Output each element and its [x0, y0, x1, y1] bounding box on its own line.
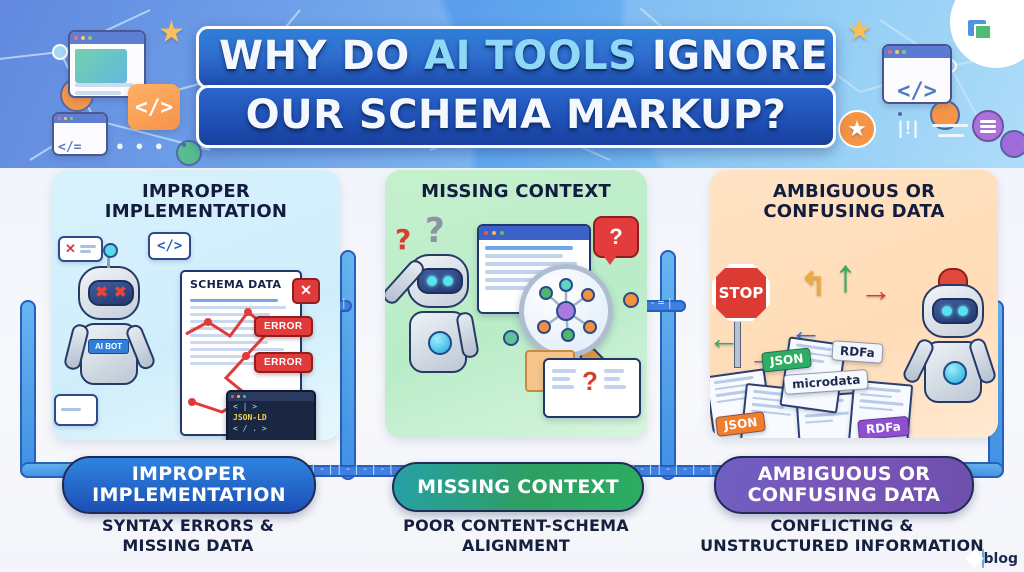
star-icon: ★ — [846, 16, 873, 46]
code-slash-icon: </= — [58, 140, 81, 155]
arrow-curve-orange: ↰ — [800, 268, 827, 300]
content-line — [75, 91, 121, 95]
caption-3-line2: UNSTRUCTURED INFORMATION — [676, 536, 1008, 556]
window-close-dot — [888, 50, 892, 54]
magnifier-lens — [519, 264, 613, 358]
error-badge-1: ERROR — [254, 316, 313, 337]
x-error-badge: ✕ — [292, 278, 320, 304]
question-card: ? — [543, 358, 641, 418]
capsule-missing-context[interactable]: MISSING CONTEXT — [392, 462, 644, 512]
panel-2-header: MISSING CONTEXT — [385, 170, 647, 202]
capsule-improper-implementation[interactable]: IMPROPER IMPLEMENTATION — [62, 456, 316, 514]
title-part-highlight: AI TOOLS — [424, 33, 637, 79]
decor-browser-window-small: </= — [52, 112, 108, 156]
thumbnail-image — [75, 49, 127, 83]
confused-robot — [407, 254, 469, 373]
window-close-dot — [74, 36, 78, 40]
robot-core-light — [943, 361, 967, 385]
panel-3-header-line1: AMBIGUOUS OR — [710, 182, 998, 202]
tag-rdfa-purple: RDFa — [857, 415, 909, 438]
window-minimize-dot — [81, 36, 85, 40]
panel-3-header-line2: CONFUSING DATA — [710, 202, 998, 222]
window-maximize-dot — [88, 36, 92, 40]
arrow-up-green: ↑ — [834, 252, 857, 298]
window-content: </= — [54, 123, 106, 156]
code-tag-icon: </> — [157, 238, 182, 254]
caption-1-line1: SYNTAX ERRORS & — [40, 516, 336, 536]
code-bubble: </> — [148, 232, 191, 260]
panel-improper-implementation[interactable]: IMPROPER IMPLEMENTATION ✕ </> ? ✖ — [52, 170, 340, 440]
robot-head — [922, 284, 984, 338]
robot-eye-left — [427, 276, 437, 286]
robot-core-light — [428, 331, 452, 355]
tag-rdfa-white: RDFa — [831, 340, 883, 363]
window-minimize-dot — [64, 117, 67, 120]
capsule-1-line1: IMPROPER — [92, 464, 286, 485]
capsule-1-text: IMPROPER IMPLEMENTATION — [92, 464, 286, 505]
code-line-label: JSON-LD — [228, 412, 314, 423]
json-ld-code-window: < | > JSON-LD < / . > — [226, 390, 316, 440]
arrow-left-green: ← — [710, 322, 740, 354]
decor-spacer-2 — [898, 112, 902, 116]
pipe-mid2-vertical — [660, 250, 676, 480]
panel-3-header: AMBIGUOUS OR CONFUSING DATA — [710, 170, 998, 222]
panel-1-artwork: ✕ </> ? ✖ ✖ AI BOT — [52, 222, 340, 440]
star-badge-icon: ★ — [838, 110, 876, 148]
page-title-line2: OUR SCHEMA MARKUP? — [219, 95, 813, 136]
slider-track — [938, 134, 964, 137]
panel-3-artwork: STOP ← → ↰ ↑ → ← — [710, 222, 998, 438]
title-part-post: IGNORE — [637, 33, 828, 79]
window-close-dot — [58, 117, 61, 120]
blog-watermark-label: blog — [984, 551, 1018, 567]
robot-eye-left — [942, 306, 952, 316]
window-titlebar — [884, 46, 950, 58]
arrow-right-red: → — [860, 274, 892, 306]
card-content: ? — [545, 360, 639, 402]
question-bubble-red: ? — [593, 216, 639, 258]
slider-track — [932, 124, 968, 127]
code-tag-icon: </> — [128, 84, 180, 130]
pipe-mid1-vertical — [340, 250, 356, 480]
panel-2-artwork: ? ? — [385, 202, 647, 438]
robot-eye-x-right: ✖ — [114, 285, 127, 300]
overwhelmed-robot — [922, 284, 984, 403]
panel-2-header-line1: MISSING CONTEXT — [385, 182, 647, 202]
brand-logo-icon — [968, 20, 994, 42]
caption-improper-implementation: SYNTAX ERRORS & MISSING DATA — [40, 516, 336, 555]
infographic-canvas: </= </> ● ● ● ★ ★ ★ </> |!| — [0, 0, 1024, 572]
robot-visor — [417, 268, 463, 294]
caption-2-line1: POOR CONTENT-SCHEMA — [372, 516, 660, 536]
title-bar-line1: WHY DO AI TOOLS IGNORE — [196, 26, 836, 89]
robot-visor: ✖ ✖ — [88, 280, 134, 306]
content-line — [75, 65, 95, 69]
panel-missing-context[interactable]: MISSING CONTEXT ? ? — [385, 170, 647, 438]
window-maximize-dot — [70, 117, 73, 120]
panel-1-header: IMPROPER IMPLEMENTATION — [52, 170, 340, 222]
page-title-line1: WHY DO AI TOOLS IGNORE — [219, 36, 813, 77]
capsule-3-line1: AMBIGUOUS OR — [748, 464, 941, 485]
robot-eye-right — [443, 276, 453, 286]
decor-node-orange-2 — [930, 100, 960, 130]
title-block: WHY DO AI TOOLS IGNORE OUR SCHEMA MARKUP… — [196, 26, 836, 148]
window-titlebar — [479, 226, 589, 240]
capsule-3-text: AMBIGUOUS OR CONFUSING DATA — [748, 464, 941, 505]
window-titlebar — [70, 32, 144, 44]
window-titlebar — [228, 392, 314, 401]
slider-icon: |!| — [898, 118, 920, 139]
graph-node-outer — [503, 330, 519, 346]
window-content — [70, 44, 144, 98]
panel-ambiguous-confusing-data[interactable]: AMBIGUOUS OR CONFUSING DATA STOP ← → ↰ ↑… — [710, 170, 998, 438]
code-tag-icon: </> — [897, 79, 937, 104]
pipe-dash-marks: |-||-|-|-| — [630, 462, 716, 475]
stop-sign: STOP — [712, 264, 770, 322]
caption-ambiguous-confusing-data: CONFLICTING & UNSTRUCTURED INFORMATION — [676, 516, 1008, 555]
panel-1-header-line1: IMPROPER — [52, 182, 340, 202]
decor-node-purple — [1000, 130, 1024, 158]
capsule-3-line2: CONFUSING DATA — [748, 485, 941, 506]
title-bar-line2: OUR SCHEMA MARKUP? — [196, 85, 836, 148]
document-title: SCHEMA DATA — [182, 272, 300, 295]
code-line-open: < | > — [228, 401, 314, 412]
decor-browser-window-code: </> — [882, 44, 952, 104]
content-line — [75, 49, 99, 53]
window-titlebar — [54, 114, 106, 123]
caption-2-line2: ALIGNMENT — [372, 536, 660, 556]
ai-bot-robot-error: ✖ ✖ AI BOT — [78, 266, 140, 385]
capsule-1-line2: IMPLEMENTATION — [92, 485, 286, 506]
robot-badge: AI BOT — [88, 339, 129, 354]
robot-visor — [932, 298, 978, 324]
blog-watermark-icon — [982, 549, 984, 568]
content-line — [75, 83, 133, 87]
robot-eye-right — [958, 306, 968, 316]
capsule-2-line1: MISSING CONTEXT — [417, 477, 619, 498]
title-part-pre: WHY DO — [219, 33, 424, 79]
question-mark-icon-gray: ? — [425, 214, 445, 248]
window-minimize-dot — [895, 50, 899, 54]
window-maximize-dot — [902, 50, 906, 54]
content-line — [75, 57, 97, 61]
robot-head: ✖ ✖ — [78, 266, 140, 320]
pipe-left-vertical — [20, 300, 36, 478]
robot-antenna — [107, 252, 110, 268]
panel-1-header-line2: IMPLEMENTATION — [52, 202, 340, 222]
caption-3-line1: CONFLICTING & — [676, 516, 1008, 536]
question-mark-icon-red: ? — [395, 226, 411, 254]
decor-spacer — [182, 143, 186, 147]
small-doc-bubble — [54, 394, 98, 426]
decor-dots: ● ● ● — [116, 138, 167, 153]
x-mark-icon: ✕ — [65, 241, 76, 257]
database-icon — [972, 110, 1004, 142]
caption-missing-context: POOR CONTENT-SCHEMA ALIGNMENT — [372, 516, 660, 555]
star-icon: ★ — [158, 18, 185, 48]
caption-1-line2: MISSING DATA — [40, 536, 336, 556]
graph-node-outer — [623, 292, 639, 308]
robot-eye-x-left: ✖ — [95, 285, 108, 300]
question-mark-icon: ? — [582, 368, 598, 394]
code-line-close: < / . > — [228, 423, 314, 434]
decor-node-orange — [60, 78, 94, 112]
capsule-ambiguous-confusing-data[interactable]: AMBIGUOUS OR CONFUSING DATA — [714, 456, 974, 514]
window-content: </> — [884, 58, 950, 104]
error-bubble-x: ✕ — [58, 236, 103, 262]
decor-browser-window-large — [68, 30, 146, 98]
brand-logo-badge[interactable] — [950, 0, 1024, 68]
schema-graph-icon — [524, 269, 608, 353]
blog-watermark[interactable]: blog — [982, 550, 1018, 568]
pipe-dash-marks: |-||-|-|-| — [310, 462, 396, 475]
error-badge-2: ERROR — [254, 352, 313, 373]
